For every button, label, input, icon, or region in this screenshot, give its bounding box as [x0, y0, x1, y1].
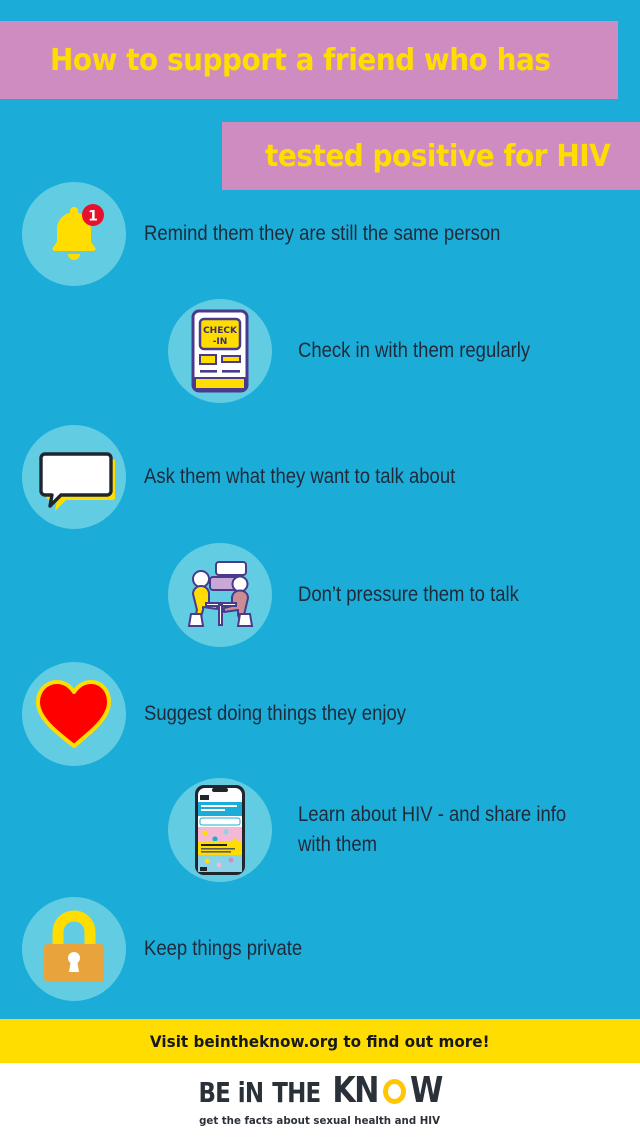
icon-container-phone-website — [168, 778, 272, 882]
phone-website-icon — [193, 783, 247, 877]
tip-row-7: Keep things private — [0, 897, 640, 1001]
tip-text-1: Remind them they are still the same pers… — [144, 219, 500, 249]
tip-row-2: CHECK -IN Check in with them regularly — [0, 299, 640, 403]
brand-tagline: get the facts about sexual health and HI… — [200, 1114, 441, 1127]
icon-container-heart — [22, 662, 126, 766]
cta-bar[interactable]: Visit beintheknow.org to find out more! — [0, 1019, 640, 1063]
heart-icon — [32, 676, 116, 752]
cta-text: Visit beintheknow.org to find out more! — [150, 1032, 490, 1051]
two-people-talking-icon — [178, 558, 262, 632]
phone-check-in-icon: CHECK -IN — [189, 308, 251, 394]
tip-row-6: Learn about HIV - and share info with th… — [0, 778, 640, 882]
logo-part-w: W — [410, 1073, 442, 1109]
tip-row-5: Suggest doing things they enjoy — [0, 662, 640, 766]
icon-container-check-in: CHECK -IN — [168, 299, 272, 403]
tip-row-3: Ask them what they want to talk about — [0, 425, 640, 529]
title-line1-text: How to support a friend who has — [50, 43, 550, 78]
logo-part-in: iN — [237, 1079, 262, 1107]
logo-part-the: THE — [272, 1079, 320, 1107]
tip-text-4: Don’t pressure them to talk — [298, 580, 519, 610]
check-in-screen-line2: -IN — [213, 337, 228, 347]
tip-text-7: Keep things private — [144, 934, 302, 964]
check-in-screen-line1: CHECK — [203, 326, 238, 336]
brand-logo-wordmark: BE iN THE KN W — [195, 1073, 445, 1109]
tip-row-4: Don’t pressure them to talk — [0, 543, 640, 647]
icon-container-two-people — [168, 543, 272, 647]
icon-container-bell: 1 — [22, 182, 126, 286]
title-banner-line2: tested positive for HIV — [222, 122, 640, 190]
logo-part-kn: KN — [333, 1073, 378, 1109]
tip-text-2: Check in with them regularly — [298, 336, 530, 366]
tip-text-5: Suggest doing things they enjoy — [144, 699, 406, 729]
brand-logo-area: BE iN THE KN W get the facts about sexua… — [0, 1063, 640, 1137]
tip-row-1: 1 Remind them they are still the same pe… — [0, 182, 640, 286]
bell-notification-icon: 1 — [38, 198, 110, 270]
logo-part-be: BE — [198, 1079, 230, 1107]
padlock-icon — [34, 908, 114, 990]
title-banner-line1: How to support a friend who has — [0, 21, 618, 99]
badge-count: 1 — [88, 209, 98, 225]
icon-container-padlock — [22, 897, 126, 1001]
title-line2-text: tested positive for HIV — [265, 139, 610, 174]
tip-text-3: Ask them what they want to talk about — [144, 462, 455, 492]
icon-container-speech — [22, 425, 126, 529]
logo-part-o-ring — [383, 1079, 406, 1104]
infographic-poster: How to support a friend who has tested p… — [0, 0, 640, 1137]
tip-text-6: Learn about HIV - and share info with th… — [298, 800, 566, 861]
speech-bubble-icon — [33, 443, 115, 511]
